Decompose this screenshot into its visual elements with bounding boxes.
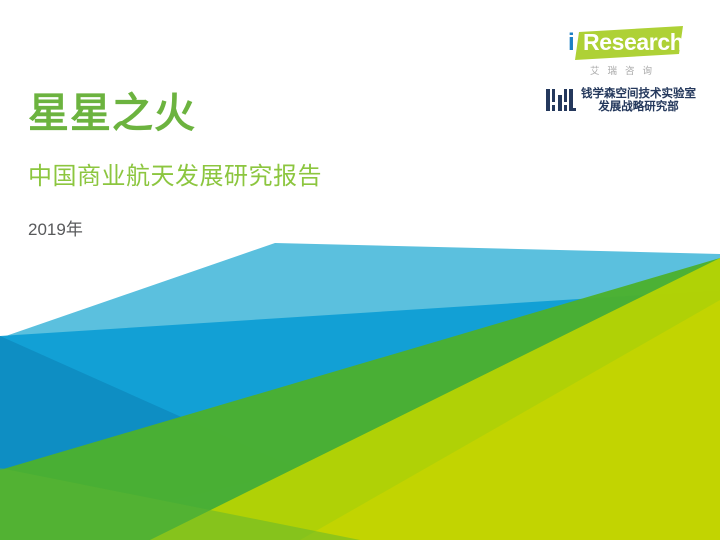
logo-stack: i Research 艾瑞咨询 钱学森空间技术实验室 发展战略 — [546, 26, 696, 114]
light-blue-peak-shape — [0, 243, 720, 540]
report-year-label: 2019年 — [28, 220, 458, 240]
green-field-shape — [0, 258, 720, 540]
page-title: 星星之火 — [28, 90, 458, 137]
iresearch-wordmark: Research — [583, 29, 683, 56]
yellow-green-wedge-shape — [150, 258, 720, 540]
bar-chart-mark-icon — [546, 87, 576, 114]
olive-blend-shape — [0, 468, 360, 540]
dark-blue-shadow-shape — [0, 336, 300, 540]
deep-blue-left-shape — [0, 290, 720, 540]
lab-name-secondary: 发展战略研究部 — [598, 101, 679, 114]
page-subtitle: 中国商业航天发展研究报告 — [28, 163, 458, 192]
presentation-cover-slide: 星星之火 中国商业航天发展研究报告 2019年 i Research 艾瑞咨询 — [0, 0, 720, 540]
chartreuse-overlay-shape — [300, 300, 720, 540]
iresearch-logo: i Research — [559, 26, 683, 60]
lab-logo: 钱学森空间技术实验室 发展战略研究部 — [546, 87, 696, 114]
lab-name-primary: 钱学森空间技术实验室 — [581, 88, 696, 101]
iresearch-initial: i — [568, 29, 575, 56]
iresearch-chinese-name: 艾瑞咨询 — [582, 65, 660, 78]
lab-name-block: 钱学森空间技术实验室 发展战略研究部 — [581, 88, 696, 114]
cover-title-block: 星星之火 中国商业航天发展研究报告 2019年 — [28, 90, 458, 240]
